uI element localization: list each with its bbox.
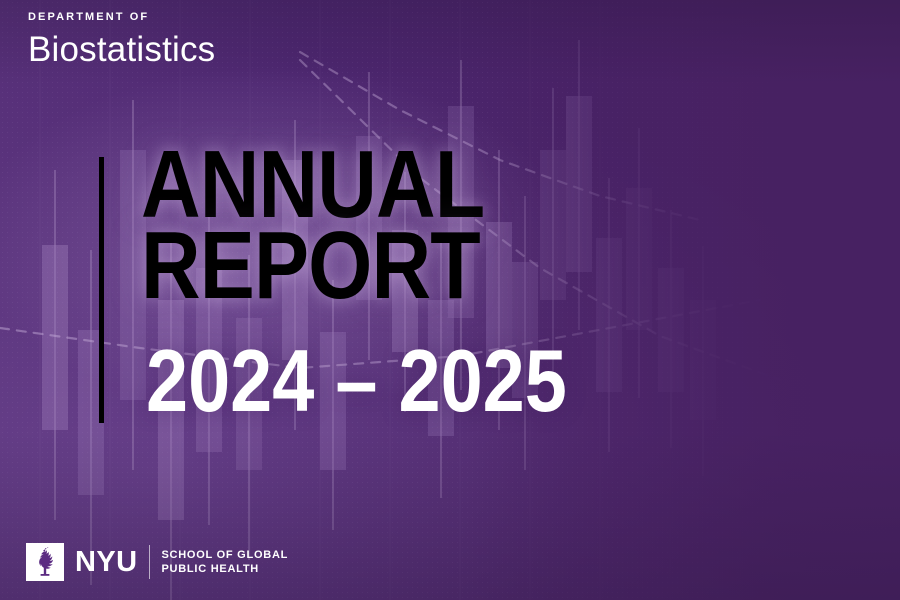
annual-report-cover: DEPARTMENT OF Biostatistics ANNUAL REPOR… <box>0 0 900 600</box>
candle-wick <box>54 170 56 520</box>
department-brand: DEPARTMENT OF Biostatistics <box>28 12 215 67</box>
school-name-line2: PUBLIC HEALTH <box>161 562 288 576</box>
nyu-torch-icon <box>26 543 64 581</box>
title-line-report: REPORT <box>141 229 691 304</box>
candle-wick <box>90 250 92 585</box>
candle-body <box>690 300 716 420</box>
school-name-line1: SCHOOL OF GLOBAL <box>161 548 288 562</box>
candlestick-series <box>42 40 716 600</box>
report-years: 2024 – 2025 <box>146 341 567 422</box>
vertical-accent-bar <box>99 157 104 423</box>
department-eyebrow: DEPARTMENT OF <box>28 12 215 23</box>
candle-body <box>42 245 68 430</box>
nyu-wordmark: NYU <box>75 548 137 577</box>
department-name: Biostatistics <box>28 32 215 67</box>
logo-divider <box>149 545 150 579</box>
torch-glyph <box>32 547 58 577</box>
page-title: ANNUAL REPORT <box>141 148 781 304</box>
nyu-sgph-logo: NYU SCHOOL OF GLOBAL PUBLIC HEALTH <box>26 543 288 581</box>
candle-wick <box>132 100 134 470</box>
school-name: SCHOOL OF GLOBAL PUBLIC HEALTH <box>161 548 288 576</box>
